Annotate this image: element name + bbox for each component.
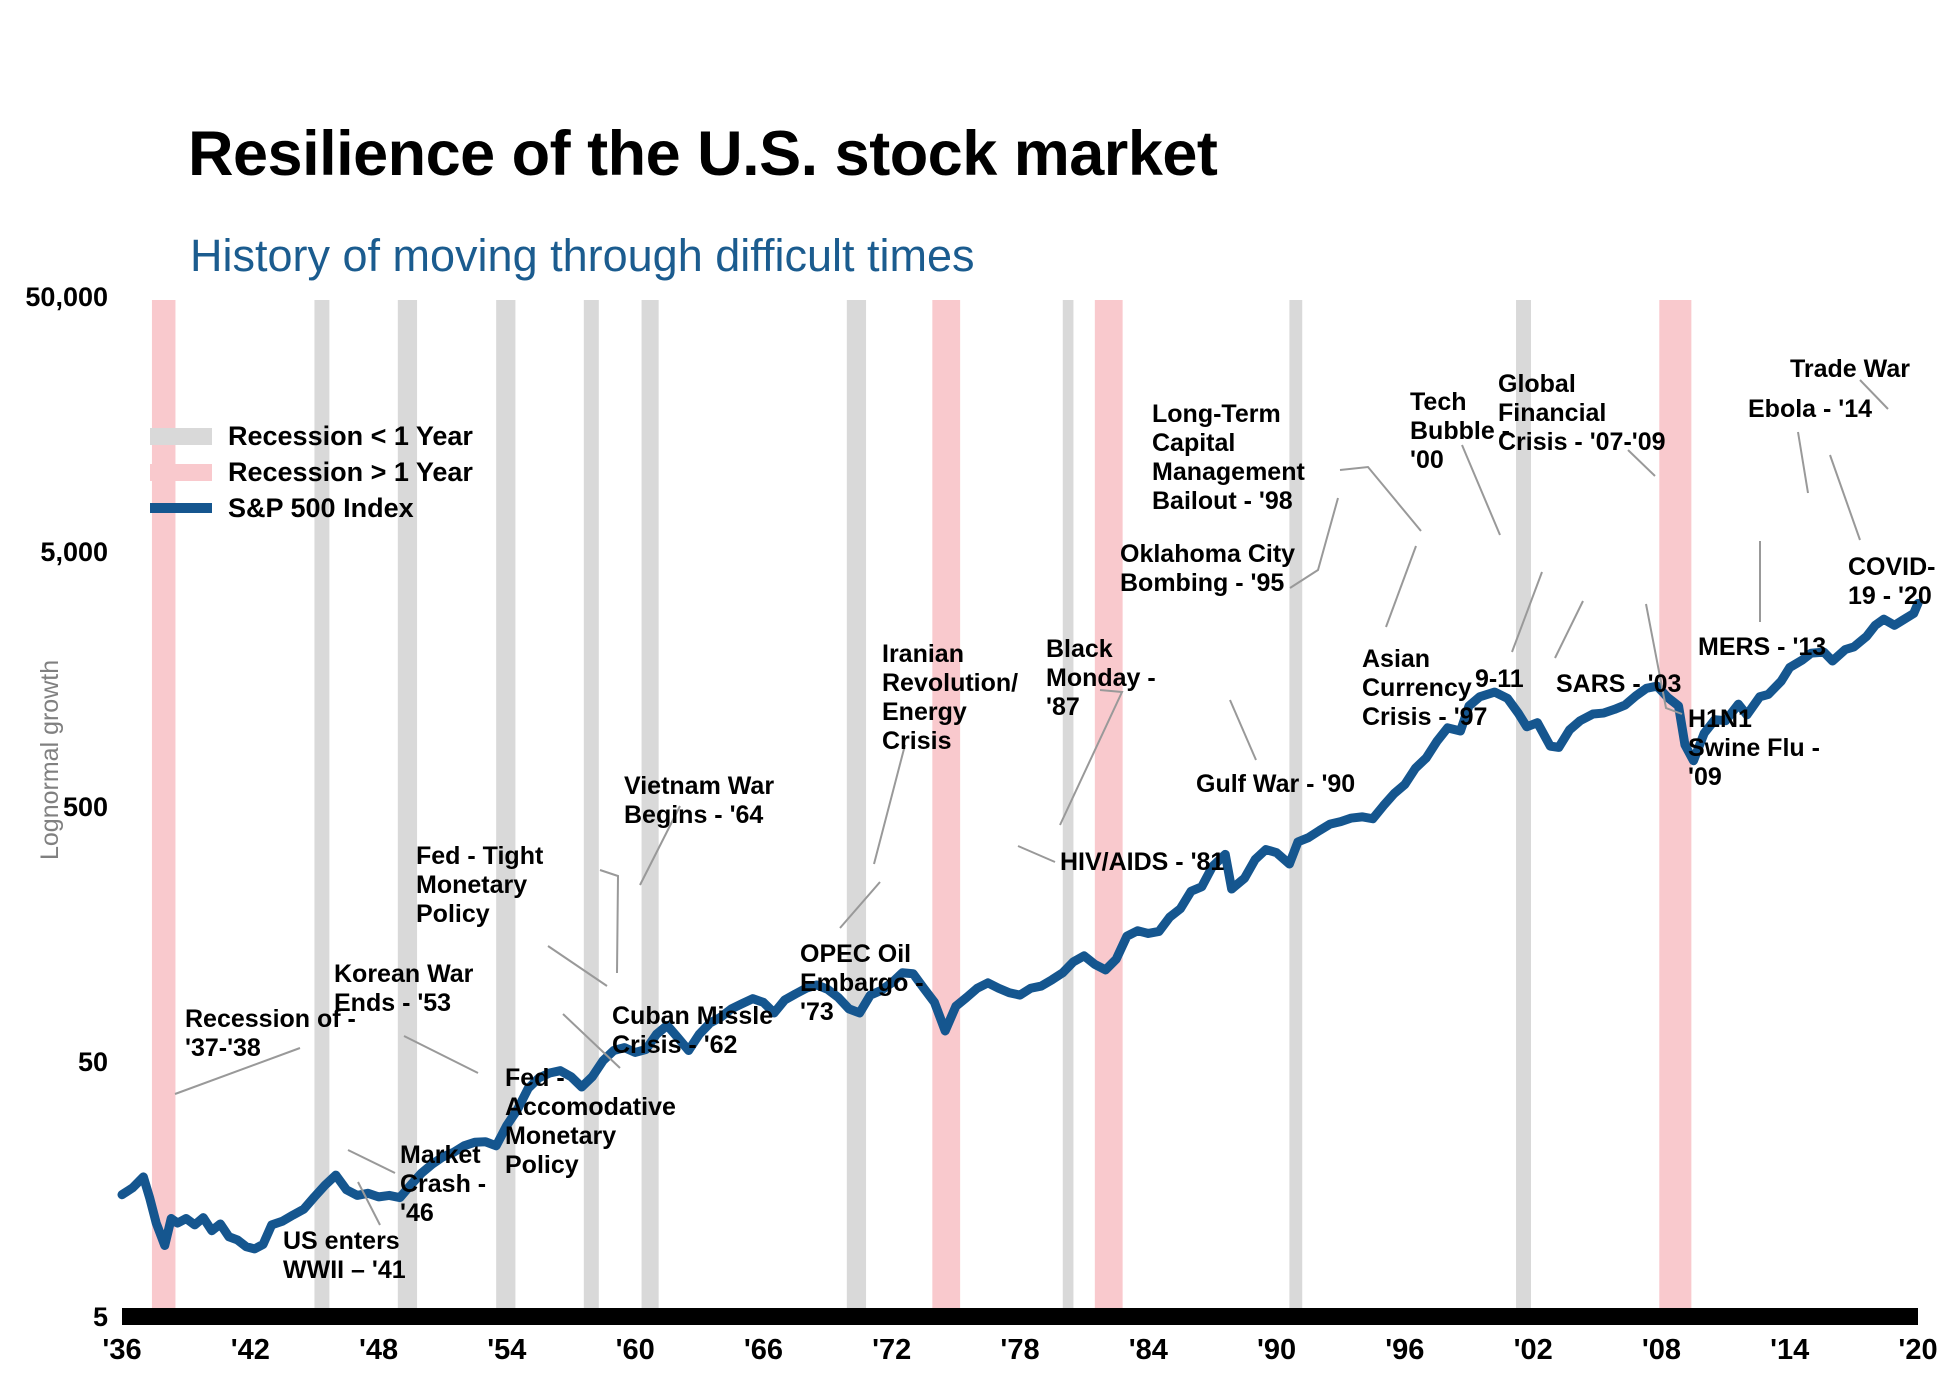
legend-color-swatch bbox=[150, 464, 212, 481]
annotation-vietnam-war-begins-64: Vietnam War Begins - '64 bbox=[624, 772, 774, 830]
x-axis-tick: '78 bbox=[1000, 1334, 1039, 1367]
y-axis-tick: 5,000 bbox=[0, 537, 108, 568]
annotation-h1n1-swine-flu-09: H1N1 Swine Flu - '09 bbox=[1688, 705, 1820, 792]
annotation-fed-tight-monetary-policy: Fed - Tight Monetary Policy bbox=[416, 842, 543, 929]
annotation-black-monday-87: Black Monday - '87 bbox=[1046, 635, 1156, 722]
annotation-long-term-capital-management-bailout-98: Long-Term Capital Management Bailout - '… bbox=[1152, 400, 1305, 516]
x-axis-tick: '20 bbox=[1898, 1334, 1937, 1367]
x-axis-tick: '54 bbox=[487, 1334, 526, 1367]
annotation-us-enters-wwii-41: US enters WWII – '41 bbox=[283, 1227, 406, 1285]
x-axis-tick: '36 bbox=[102, 1334, 141, 1367]
y-axis-tick: 50 bbox=[0, 1047, 108, 1078]
sp500-line bbox=[122, 603, 1918, 1249]
page-title: Resilience of the U.S. stock market bbox=[188, 118, 1217, 190]
recession-band-long bbox=[1095, 300, 1123, 1320]
annotation-tech-bubble-00: Tech Bubble - '00 bbox=[1410, 388, 1510, 475]
annotation-mers-13: MERS - '13 bbox=[1698, 633, 1826, 662]
x-axis-tick: '66 bbox=[744, 1334, 783, 1367]
annotation-global-financial-crisis-07-09: Global Financial Crisis - '07-'09 bbox=[1498, 370, 1666, 457]
x-axis-tick: '96 bbox=[1385, 1334, 1424, 1367]
legend-label: S&P 500 Index bbox=[228, 493, 414, 524]
annotation-9-11: 9-11 bbox=[1475, 665, 1524, 694]
legend-item[interactable]: S&P 500 Index bbox=[150, 490, 473, 526]
annotation-asian-currency-crisis-97: Asian Currency Crisis - '97 bbox=[1362, 645, 1487, 732]
legend-item[interactable]: Recession < 1 Year bbox=[150, 418, 473, 454]
legend-color-swatch bbox=[150, 428, 212, 445]
annotation-market-crash-46: Market Crash - '46 bbox=[400, 1141, 486, 1228]
x-axis-tick: '72 bbox=[872, 1334, 911, 1367]
annotation-oklahoma-city-bombing-95: Oklahoma City Bombing - '95 bbox=[1120, 540, 1295, 598]
chart-legend: Recession < 1 YearRecession > 1 YearS&P … bbox=[150, 418, 473, 526]
annotation-cuban-missile-crisis-62: Cuban Missle Crisis - '62 bbox=[612, 1002, 773, 1060]
annotation-trade-war: Trade War bbox=[1790, 355, 1910, 384]
legend-label: Recession < 1 Year bbox=[228, 421, 473, 452]
recession-band-short bbox=[847, 300, 866, 1320]
legend-label: Recession > 1 Year bbox=[228, 457, 473, 488]
annotation-opec-oil-embargo-73: OPEC Oil Embargo - '73 bbox=[800, 940, 924, 1027]
x-axis-tick: '60 bbox=[616, 1334, 655, 1367]
legend-item[interactable]: Recession > 1 Year bbox=[150, 454, 473, 490]
annotation-iranian-revolution-energy-crisis: Iranian Revolution/ Energy Crisis bbox=[882, 640, 1018, 756]
x-axis-tick: '90 bbox=[1257, 1334, 1296, 1367]
y-axis-tick: 50,000 bbox=[0, 282, 108, 313]
annotation-fed-accomodative-monetary-policy: Fed - Accomodative Monetary Policy bbox=[505, 1064, 676, 1180]
x-axis-tick: '48 bbox=[359, 1334, 398, 1367]
annotation-sars-03: SARS - '03 bbox=[1556, 670, 1681, 699]
x-axis-bar bbox=[122, 1308, 1918, 1325]
annotation-ebola-14: Ebola - '14 bbox=[1748, 395, 1872, 424]
annotation-korean-war-ends-53: Korean War Ends - '53 bbox=[334, 960, 473, 1018]
annotation-covid-19-20: COVID- 19 - '20 bbox=[1848, 553, 1936, 611]
annotation-hiv-aids-81: HIV/AIDS - '81 bbox=[1060, 848, 1224, 877]
annotation-recession-37-38: Recession of - '37-'38 bbox=[185, 1005, 356, 1063]
x-axis-tick: '02 bbox=[1514, 1334, 1553, 1367]
recession-band-long bbox=[932, 300, 960, 1320]
annotation-gulf-war-90: Gulf War - '90 bbox=[1196, 770, 1355, 799]
y-axis-label: Lognormal growth bbox=[36, 660, 65, 860]
x-axis-tick: '84 bbox=[1129, 1334, 1168, 1367]
x-axis-tick: '42 bbox=[231, 1334, 270, 1367]
x-axis-tick: '08 bbox=[1642, 1334, 1681, 1367]
recession-band-short bbox=[1063, 300, 1074, 1320]
page-subtitle: History of moving through difficult time… bbox=[190, 230, 975, 282]
legend-line-swatch bbox=[150, 503, 212, 513]
y-axis-tick: 5 bbox=[0, 1302, 108, 1333]
x-axis-tick: '14 bbox=[1770, 1334, 1809, 1367]
